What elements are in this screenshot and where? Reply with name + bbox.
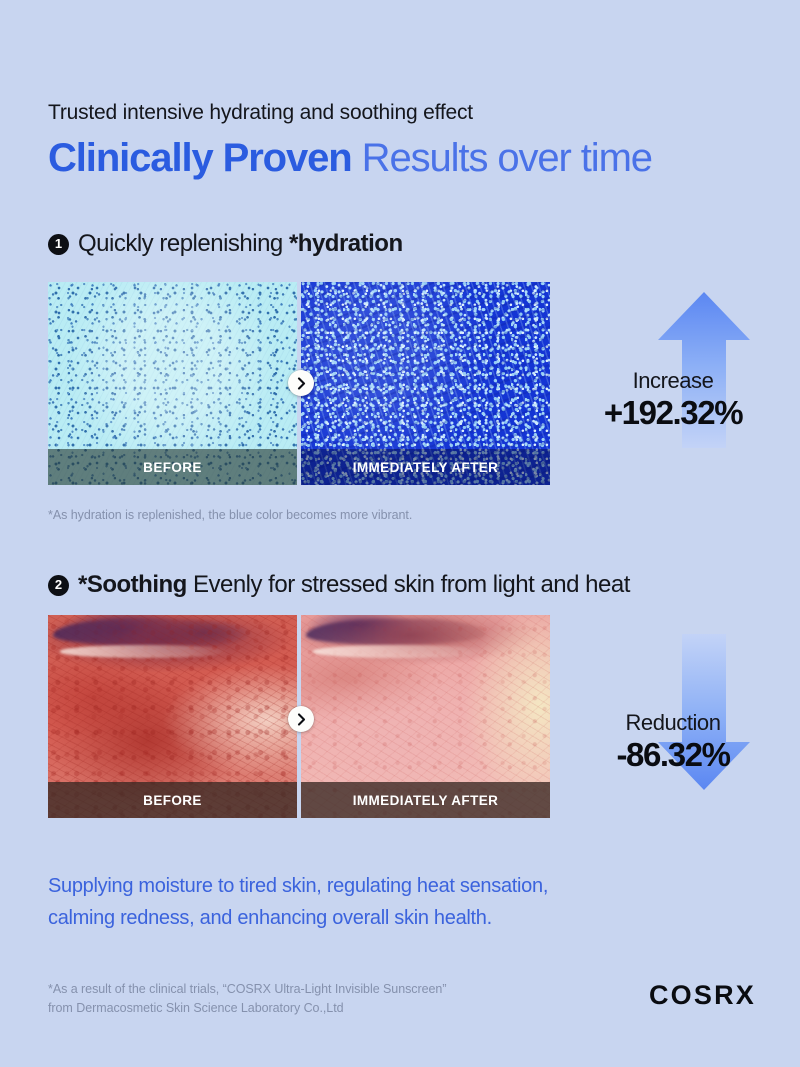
section-number-badge-2: 2 (48, 575, 69, 596)
clinical-trial-credit: *As a result of the clinical trials, “CO… (48, 980, 446, 1019)
eyebrow-shadow-before (53, 619, 232, 645)
section-number-badge-1: 1 (48, 234, 69, 255)
headline-emphasis: Clinically Proven (48, 136, 352, 180)
headline-rest: Results over time (352, 136, 652, 180)
label-before-soothing: BEFORE (48, 782, 297, 818)
page-title: Clinically Proven Results over time (48, 136, 758, 181)
chevron-right-icon[interactable] (288, 370, 314, 396)
section-title-1-prefix: Quickly replenishing (78, 230, 289, 257)
section-title-1-strong: *hydration (289, 230, 403, 257)
stat-value-increase: +192.32% (558, 395, 788, 432)
section-title-2-suffix: Evenly for stressed skin from light and … (187, 571, 630, 598)
eyebrow-text: Trusted intensive hydrating and soothing… (48, 100, 758, 125)
stat-caption-increase: Increase (558, 368, 788, 393)
infographic-page: Trusted intensive hydrating and soothing… (0, 0, 800, 1067)
image-before-soothing: BEFORE (48, 615, 297, 818)
label-after-soothing: IMMEDIATELY AFTER (301, 782, 550, 818)
stat-value-reduction: -86.32% (558, 737, 788, 774)
section-title-2-strong: *Soothing (78, 571, 187, 598)
header-block: Trusted intensive hydrating and soothing… (48, 100, 758, 181)
image-after-soothing: IMMEDIATELY AFTER (301, 615, 550, 818)
label-after-hydration: IMMEDIATELY AFTER (301, 449, 550, 485)
eyelid-highlight-after (313, 645, 482, 657)
image-after-hydration: IMMEDIATELY AFTER (301, 282, 550, 485)
section-title-1: Quickly replenishing *hydration (78, 230, 403, 258)
stat-block-reduction: Reduction -86.32% (558, 632, 788, 792)
footnote-hydration: *As hydration is replenished, the blue c… (48, 506, 412, 524)
eyebrow-shadow-after (306, 619, 485, 645)
brand-logo-cosrx: COSRX (649, 980, 756, 1011)
image-before-hydration: BEFORE (48, 282, 297, 485)
summary-text: Supplying moisture to tired skin, regula… (48, 870, 748, 935)
stat-caption-reduction: Reduction (558, 710, 788, 735)
eyelid-highlight-before (60, 645, 229, 657)
summary-line-1: Supplying moisture to tired skin, regula… (48, 870, 748, 902)
chevron-right-icon[interactable] (288, 706, 314, 732)
stat-block-increase: Increase +192.32% (558, 290, 788, 450)
section-title-2: *Soothing Evenly for stressed skin from … (78, 571, 630, 599)
credit-line-1: *As a result of the clinical trials, “CO… (48, 980, 446, 999)
section-heading-hydration: 1 Quickly replenishing *hydration (48, 230, 403, 258)
label-before-hydration: BEFORE (48, 449, 297, 485)
stat-text-increase: Increase +192.32% (558, 368, 788, 432)
summary-line-2: calming redness, and enhancing overall s… (48, 902, 748, 934)
section-heading-soothing: 2 *Soothing Evenly for stressed skin fro… (48, 571, 630, 599)
stat-text-reduction: Reduction -86.32% (558, 710, 788, 774)
credit-line-2: from Dermacosmetic Skin Science Laborato… (48, 999, 446, 1018)
